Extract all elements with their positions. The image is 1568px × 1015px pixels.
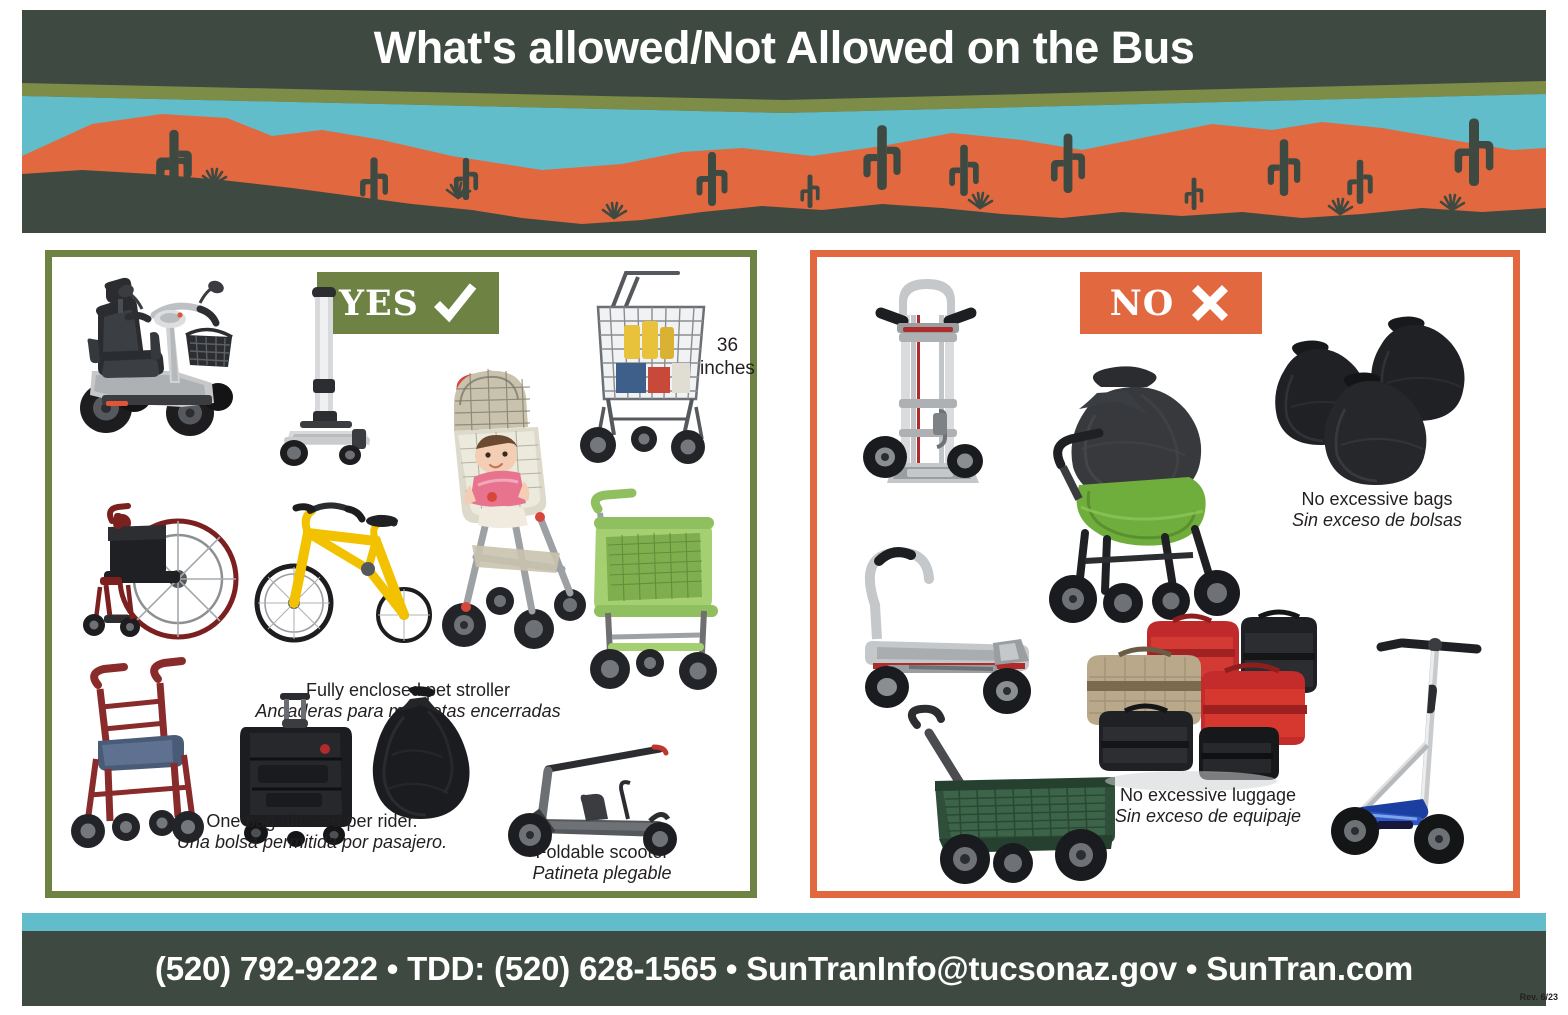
no-badge: NO <box>1080 272 1262 334</box>
panel-allowed: YES <box>45 250 757 898</box>
art-pet-stroller <box>572 487 742 697</box>
panel-not-allowed: NO <box>810 250 1520 898</box>
measure-label: 36 inches <box>700 335 755 381</box>
desert-scene-svg <box>22 78 1546 233</box>
caption-foldable-scooter-en: Foldable scooter <box>470 842 734 863</box>
header-band: What's allowed/Not Allowed on the Bus <box>22 10 1546 86</box>
measure-value: 36 <box>700 335 755 358</box>
footer-band: (520) 792-9222 • TDD: (520) 628-1565 • S… <box>22 931 1546 1006</box>
measure-unit: inches <box>700 358 755 381</box>
caption-foldable-scooter: Foldable scooter Patineta plegable <box>470 842 734 884</box>
art-platform-dolly <box>843 535 1053 725</box>
caption-one-bag-en: One bag allowed per rider. <box>112 811 512 832</box>
x-mark-icon <box>1188 281 1232 325</box>
art-black-trash-bags <box>1269 309 1489 509</box>
footer-accent-bar <box>22 913 1546 931</box>
art-electric-scooter <box>1317 625 1507 875</box>
caption-one-bag: One bag allowed per rider. Una bolsa per… <box>112 811 512 853</box>
caption-one-bag-es: Una bolsa permitida por pasajero. <box>112 832 512 853</box>
check-mark-icon <box>433 281 477 325</box>
art-walker-bike <box>252 485 442 645</box>
no-badge-label: NO <box>1110 286 1174 321</box>
caption-no-bags-en: No excessive bags <box>1247 489 1507 510</box>
footer-contact: (520) 792-9222 • TDD: (520) 628-1565 • S… <box>155 950 1413 988</box>
art-wheelchair <box>70 467 250 647</box>
art-folding-hand-cart <box>270 283 380 473</box>
art-mobility-scooter <box>62 275 252 430</box>
art-convertible-hand-truck <box>853 271 1003 501</box>
caption-foldable-scooter-es: Patineta plegable <box>470 863 734 884</box>
art-luggage-pile <box>1073 587 1343 797</box>
revision-label: Rev. 6/23 <box>1520 992 1558 1002</box>
desert-landscape-banner <box>22 78 1546 233</box>
caption-no-bags-es: Sin exceso de bolsas <box>1247 510 1507 531</box>
caption-no-bags: No excessive bags Sin exceso de bolsas <box>1247 489 1507 531</box>
page-title: What's allowed/Not Allowed on the Bus <box>374 22 1195 74</box>
